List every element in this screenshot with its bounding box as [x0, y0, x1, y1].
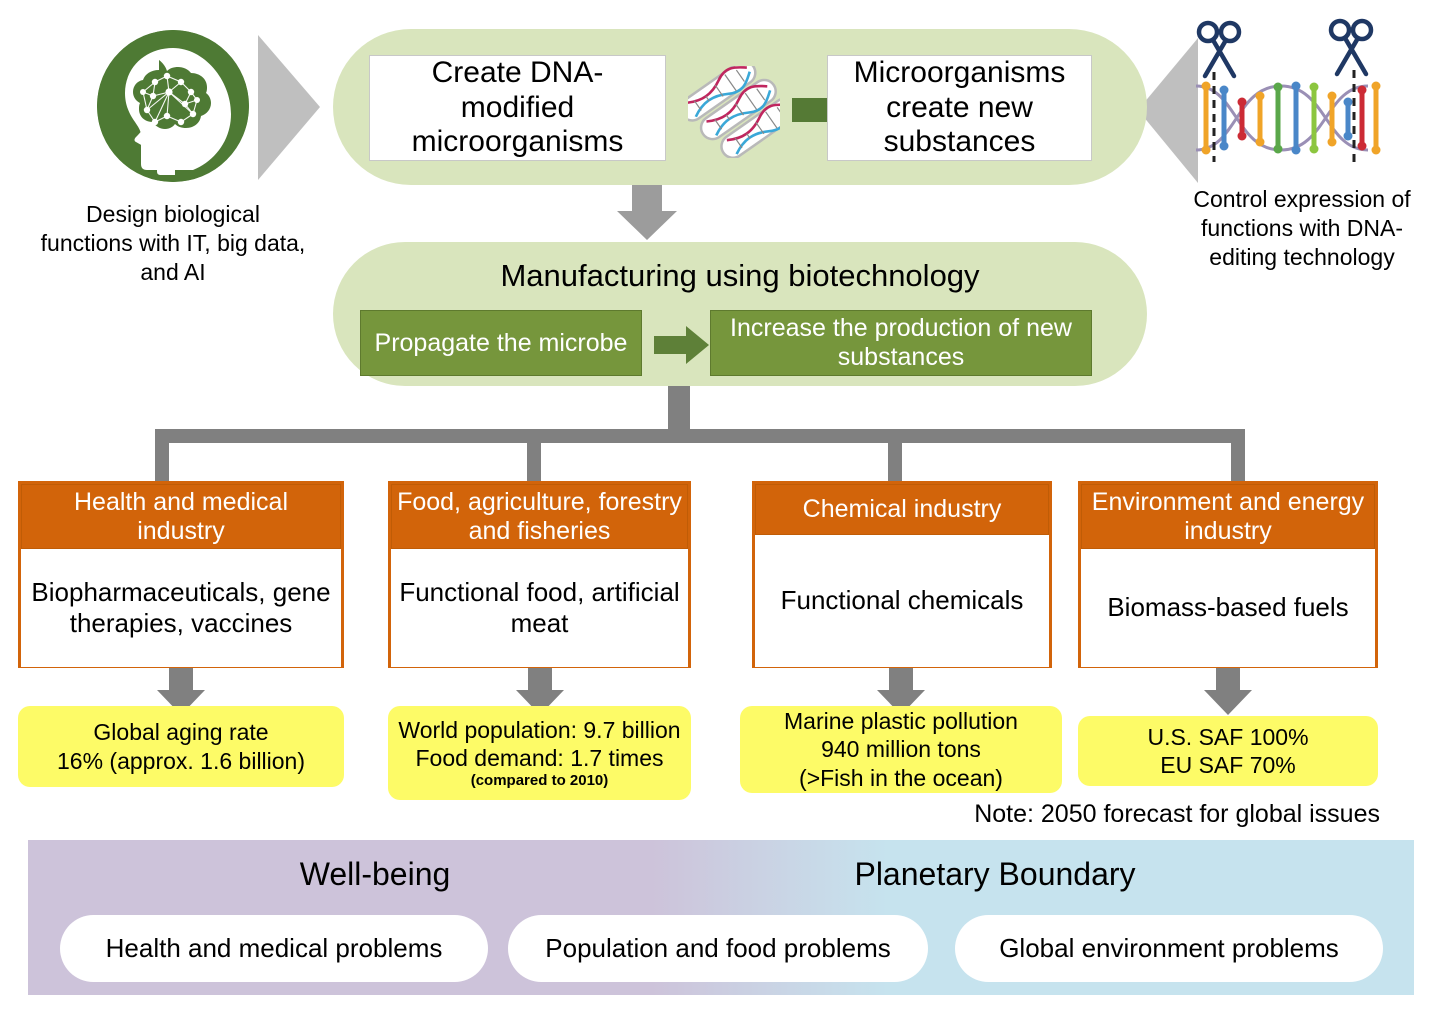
callout-line: U.S. SAF 100%	[1147, 723, 1308, 751]
industry-card-environment: Environment and energy industry Biomass-…	[1078, 481, 1378, 668]
callout-environment: U.S. SAF 100% EU SAF 70%	[1078, 716, 1378, 786]
increase-production-box: Increase the production of new substance…	[710, 310, 1092, 376]
callout-line: 940 million tons	[821, 735, 981, 763]
callout-line: World population: 9.7 billion	[398, 716, 680, 744]
green-right-arrow-icon	[654, 325, 710, 370]
industry-header: Food, agriculture, forestry and fisherie…	[391, 484, 688, 549]
dna-capsules-icon	[688, 66, 780, 158]
tree-branch-3	[888, 429, 902, 482]
outcome-pill-health: Health and medical problems	[60, 915, 488, 982]
forecast-note: Note: 2050 forecast for global issues	[880, 800, 1380, 829]
industry-card-health: Health and medical industry Biopharmaceu…	[18, 481, 344, 668]
left-panel-caption: Design biological functions with IT, big…	[38, 200, 308, 286]
dna-scissors-editing-icon	[1186, 14, 1396, 184]
industry-header: Environment and energy industry	[1081, 484, 1375, 549]
callout-food: World population: 9.7 billion Food deman…	[388, 706, 691, 800]
industry-card-food: Food, agriculture, forestry and fisherie…	[388, 481, 691, 668]
grey-down-arrow-icon	[1203, 668, 1253, 721]
industry-header: Health and medical industry	[21, 484, 341, 549]
callout-line: Food demand: 1.7 times	[415, 744, 663, 772]
callout-line: (>Fish in the ocean)	[799, 764, 1003, 792]
outcome-pill-population: Population and food problems	[508, 915, 928, 982]
planetary-boundary-title: Planetary Boundary	[690, 856, 1300, 893]
industry-body: Biopharmaceuticals, gene therapies, vacc…	[21, 549, 341, 667]
callout-line: 16% (approx. 1.6 billion)	[57, 747, 305, 775]
brain-head-ai-icon	[97, 30, 249, 182]
chevron-right-icon	[258, 35, 328, 185]
right-panel-caption: Control expression of functions with DNA…	[1182, 185, 1422, 271]
callout-chemical: Marine plastic pollution 940 million ton…	[740, 706, 1062, 793]
tree-branch-4	[1231, 429, 1245, 482]
grey-down-arrow-icon	[616, 185, 678, 246]
well-being-title: Well-being	[180, 856, 570, 893]
microorganisms-create-new-substances-box: Microorganisms create new substances	[827, 55, 1092, 161]
tree-horizontal-bar	[155, 429, 1245, 443]
industry-body: Functional chemicals	[755, 535, 1049, 667]
callout-note: (compared to 2010)	[471, 772, 609, 790]
industry-card-chemical: Chemical industry Functional chemicals	[752, 481, 1052, 668]
create-dna-modified-microorganisms-box: Create DNA-modified microorganisms	[369, 55, 666, 161]
callout-health: Global aging rate 16% (approx. 1.6 billi…	[18, 706, 344, 787]
callout-line: EU SAF 70%	[1160, 751, 1296, 779]
industry-header: Chemical industry	[755, 484, 1049, 535]
manufacturing-title: Manufacturing using biotechnology	[333, 258, 1147, 294]
tree-trunk	[668, 386, 690, 432]
callout-line: Global aging rate	[93, 718, 268, 746]
industry-body: Functional food, artificial meat	[391, 549, 688, 667]
tree-branch-1	[155, 429, 169, 482]
outcome-pill-environment: Global environment problems	[955, 915, 1383, 982]
tree-branch-2	[527, 429, 541, 482]
propagate-microbe-box: Propagate the microbe	[360, 310, 642, 376]
callout-line: Marine plastic pollution	[784, 707, 1018, 735]
industry-body: Biomass-based fuels	[1081, 549, 1375, 667]
